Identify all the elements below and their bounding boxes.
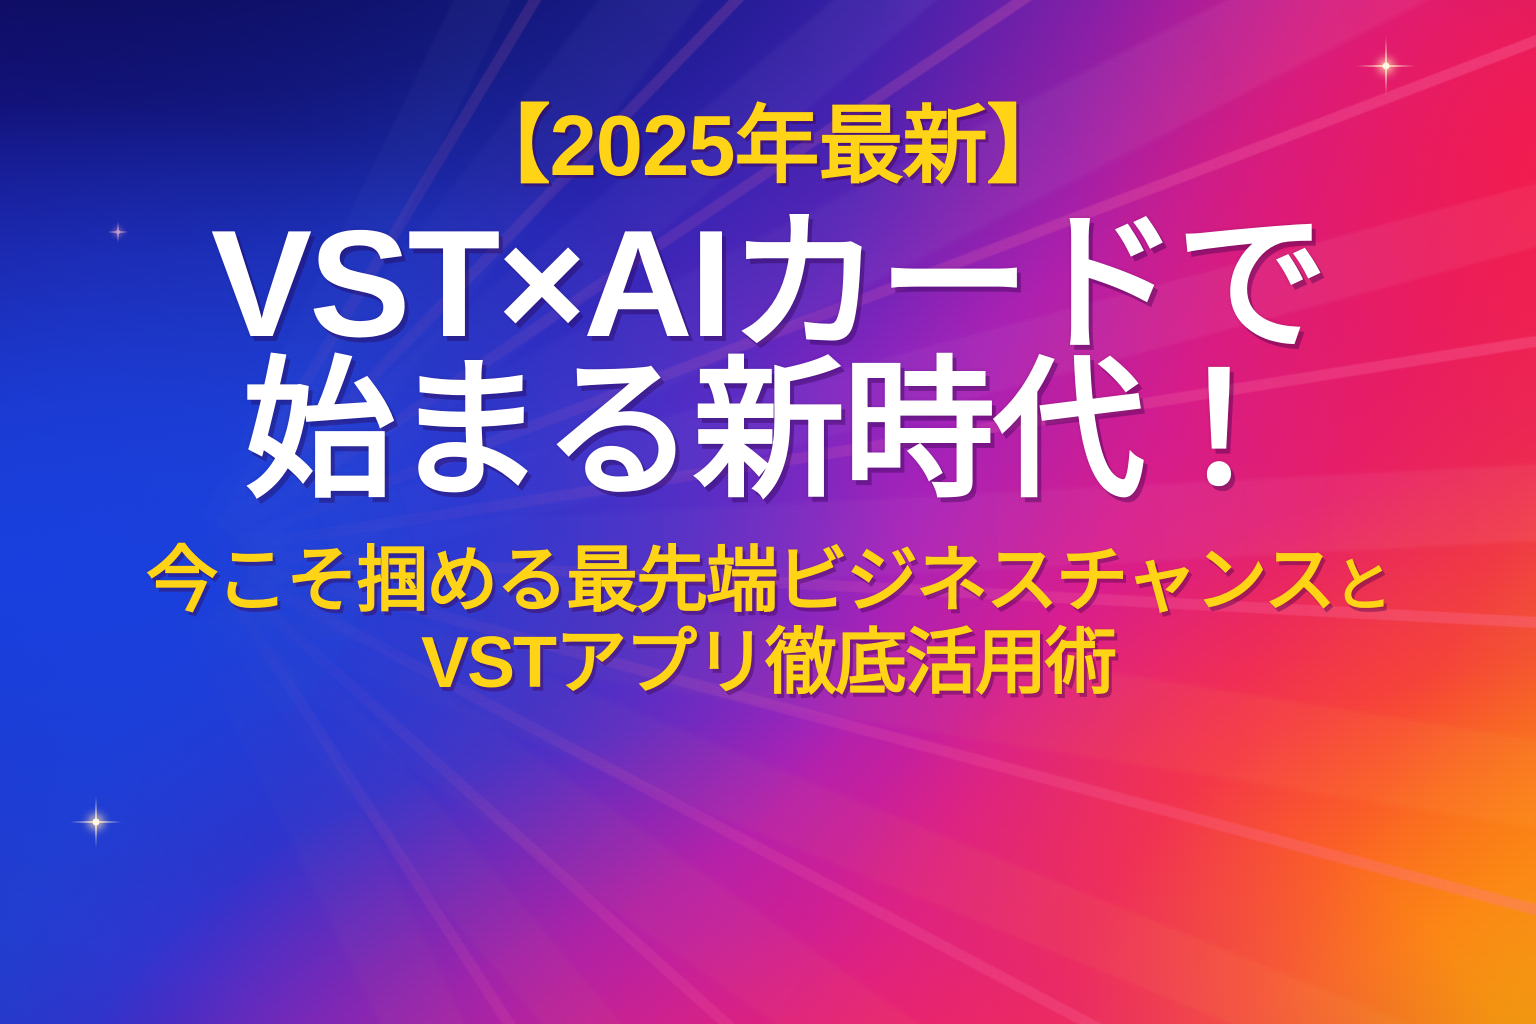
page-title: VST×AIカードで 始まる新時代！ [211,211,1325,506]
headline-line-1: VST×AIカードで [211,211,1325,358]
subtitle-line-2: VSTアプリ徹底活用術 [146,622,1390,704]
banner-text-block: 【2025年最新】 VST×AIカードで 始まる新時代！ 今こそ掴める最先端ビジ… [0,0,1536,1024]
subtitle-line-1: 今こそ掴める最先端ビジネスチャンスと [146,540,1390,622]
subtitle: 今こそ掴める最先端ビジネスチャンスと VSTアプリ徹底活用術 [146,540,1390,704]
subtitle-line-1-main: 今こそ掴める最先端ビジネスチャンス [146,541,1334,621]
eyebrow-label: 【2025年最新】 [465,104,1070,189]
subtitle-line-1-particle: と [1334,553,1390,618]
headline-line-2: 始まる新時代！ [211,358,1325,505]
banner-canvas: 【2025年最新】 VST×AIカードで 始まる新時代！ 今こそ掴める最先端ビジ… [0,0,1536,1024]
